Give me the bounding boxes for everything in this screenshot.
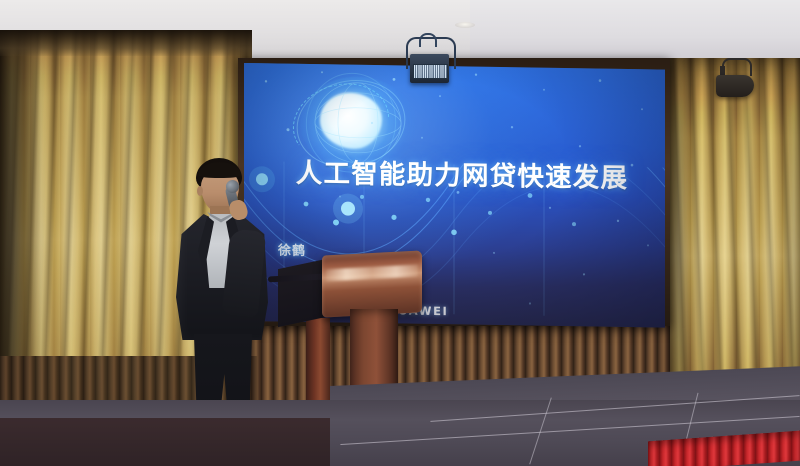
conference-presentation-photo: 人工智能助力网贷快速发展 徐鹤 HUAWEI: [0, 0, 800, 466]
presenter-ear: [197, 186, 203, 196]
stage-spotlight-icon: [404, 33, 456, 89]
curtain-left-top-trim: [0, 30, 252, 56]
stage-front-carpet: [0, 418, 330, 466]
recessed-downlight-icon: [455, 22, 475, 28]
ceiling-right-section: [470, 0, 800, 62]
podium-top: [322, 250, 422, 317]
stage-spotlight-icon: [714, 58, 758, 100]
curtain-right: [668, 58, 800, 418]
